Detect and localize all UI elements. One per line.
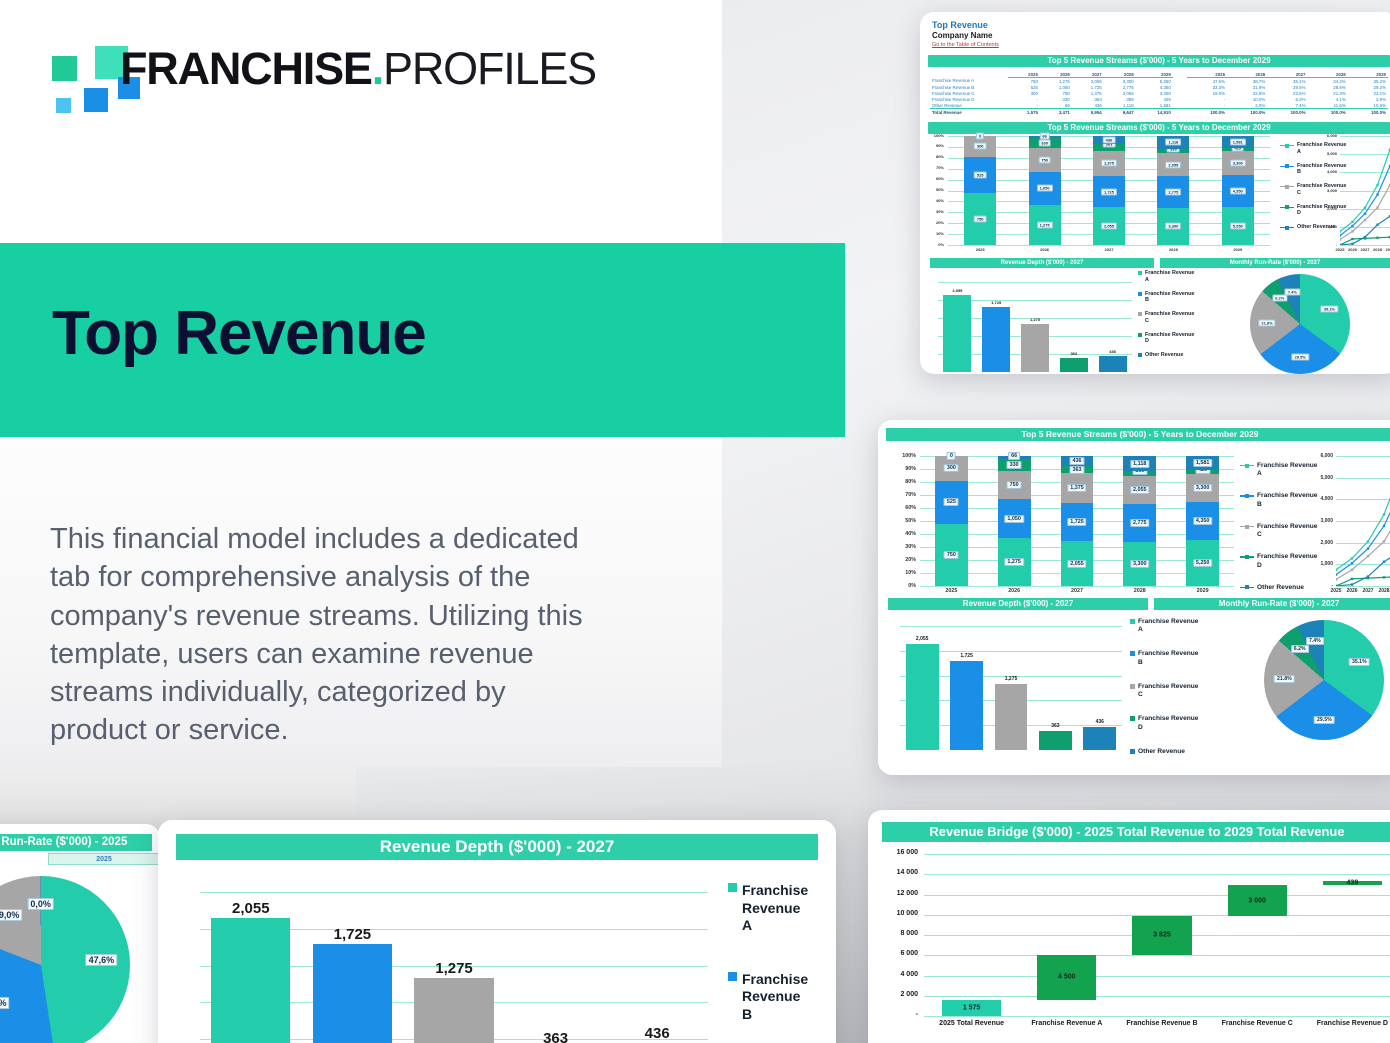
legend-item: Franchise RevenueB xyxy=(1138,291,1194,305)
depth-bar-value: 1,725 xyxy=(334,926,372,943)
stacked-bar-chart-large[interactable]: 0%10%20%30%40%50%60%70%80%90%100%7505253… xyxy=(894,452,1234,598)
legend-label: Other Revenue xyxy=(1138,748,1185,756)
stacked-bar[interactable]: 7505253000 xyxy=(964,136,996,245)
bar-segment: 330 xyxy=(998,459,1031,471)
bar-value-label: 1,275 xyxy=(1037,221,1053,228)
legend-label: Franchise RevenueB xyxy=(1257,492,1317,508)
legend-line-marker xyxy=(1240,585,1254,590)
chart2-legend-large: Franchise RevenueAFranchise RevenueBFran… xyxy=(1130,618,1198,772)
gridline xyxy=(924,895,1390,896)
bar-value-label: 436 xyxy=(1069,457,1084,465)
depth-bar-value: 363 xyxy=(1051,723,1059,729)
gridline xyxy=(948,245,1270,246)
legend-item: Franchise RevenueA xyxy=(1130,618,1198,634)
bar-value-label: 1,275 xyxy=(1004,558,1024,566)
depth-bar-value: 2,055 xyxy=(952,288,962,293)
legend-label: Other Revenue xyxy=(1145,352,1183,359)
depth-bar[interactable] xyxy=(1099,356,1127,372)
line-chart-mini[interactable]: -1,0002,0003,0004,0005,0006,000202520262… xyxy=(1320,132,1390,257)
y-axis-tick: 3,000 xyxy=(1320,188,1337,193)
waterfall-bar[interactable]: 4 500 xyxy=(1037,955,1096,1001)
chart3-title-banner-mini: Monthly Run-Rate ($'000) - 2027 xyxy=(1160,258,1390,268)
bar-segment: 3,300 xyxy=(1222,151,1254,175)
revenue-depth-chart-xl[interactable]: 2,0551,7251,275363436 xyxy=(188,876,708,1043)
depth-bar-value: 436 xyxy=(1096,719,1104,725)
screenshot-panel-bridge[interactable]: Revenue Bridge ($'000) - 2025 Total Reve… xyxy=(868,810,1390,1043)
gridline xyxy=(924,874,1390,875)
line-chart-large[interactable]: -1,0002,0003,0004,0005,0006,000202520262… xyxy=(1310,452,1390,598)
y-axis-tick: 4,000 xyxy=(1310,496,1333,502)
legend-label: Franchise RevenueD xyxy=(1138,715,1198,731)
bar-value-label: 4,350 xyxy=(1193,517,1213,525)
gridline xyxy=(920,586,1234,587)
bar-value-label: 66 xyxy=(1039,133,1049,140)
bar-segment: 3,300 xyxy=(1123,542,1156,586)
pie-year-chip: 2025 xyxy=(48,853,160,865)
y-axis-tick: 2 000 xyxy=(870,991,918,998)
bar-value-label: 1,725 xyxy=(1101,188,1117,195)
depth-bar[interactable] xyxy=(906,644,939,750)
x-axis-tick: 2028 xyxy=(1141,247,1205,252)
depth-bar-value: 436 xyxy=(1109,349,1116,354)
x-axis-tick: Franchise Revenue A xyxy=(1019,1020,1114,1027)
chart1-legend-large: Franchise RevenueAFranchise RevenueBFran… xyxy=(1240,462,1317,606)
revenue-bridge-waterfall[interactable]: -2 0004 0006 0008 00010 00012 00014 0001… xyxy=(924,854,1390,1036)
y-axis-tick: 0% xyxy=(894,583,916,589)
depth-bar[interactable] xyxy=(211,918,290,1043)
depth-bar[interactable] xyxy=(982,307,1010,372)
legend-label: Franchise RevenueC xyxy=(1257,523,1317,539)
bar-segment: 1,275 xyxy=(1029,205,1061,245)
legend-item: Franchise RevenueB xyxy=(728,971,836,1024)
legend-swatch xyxy=(1130,651,1135,656)
bar-segment: 1,118 xyxy=(1123,456,1156,471)
bar-value-label: 1,581 xyxy=(1230,138,1246,145)
screenshot-panel-depth[interactable]: Revenue Depth ($'000) - 2027 2,0551,7251… xyxy=(158,820,836,1043)
pie-value-label: 6.2% xyxy=(1291,645,1309,653)
revenue-table: 2025202620272028202920252026202720282029… xyxy=(930,71,1388,115)
stacked-bar-chart-mini[interactable]: 0%10%20%30%40%50%60%70%80%90%100%7505253… xyxy=(930,132,1270,257)
legend-item: Franchise RevenueA xyxy=(1138,270,1194,284)
chart4-title-banner: Revenue Bridge ($'000) - 2025 Total Reve… xyxy=(882,822,1390,842)
revenue-depth-chart-mini[interactable]: 2,0551,7251,275363436 xyxy=(932,274,1132,374)
bar-value-label: 5,250 xyxy=(1230,222,1246,229)
depth-bar-value: 1,275 xyxy=(1030,317,1040,322)
bar-segment: 436 xyxy=(1061,456,1094,466)
bar-segment: 3,300 xyxy=(1157,208,1189,245)
legend-item: Franchise RevenueD xyxy=(1138,332,1194,346)
x-axis-tick: 2029 xyxy=(1206,247,1270,252)
bar-segment: 525 xyxy=(964,157,996,193)
chart2-title-banner-3: Revenue Depth ($'000) - 2027 xyxy=(176,834,818,860)
y-axis-tick: 50% xyxy=(930,187,944,192)
depth-bar[interactable] xyxy=(943,295,971,372)
y-axis-tick: 10% xyxy=(894,570,916,576)
bar-segment: 2,055 xyxy=(1061,541,1094,586)
x-axis-tick: 2029 xyxy=(1380,247,1390,252)
stacked-bar[interactable]: 5,2504,3503,3004291,581 xyxy=(1186,456,1219,586)
legend-line-marker xyxy=(1280,143,1294,148)
x-axis-tick: Franchise Revenue C xyxy=(1210,1020,1305,1027)
waterfall-bar[interactable]: 439 xyxy=(1323,881,1382,885)
y-axis-tick: 12 000 xyxy=(870,890,918,897)
gridline xyxy=(924,996,1390,997)
legend-label: Franchise RevenueB xyxy=(742,971,836,1024)
brand-dot: . xyxy=(372,43,383,94)
y-axis-tick: 40% xyxy=(894,531,916,537)
legend-label: Franchise RevenueA xyxy=(742,882,836,935)
bar-value-label: 1,118 xyxy=(1165,139,1181,146)
bar-segment: 2,055 xyxy=(1093,207,1125,245)
bar-value-label: 750 xyxy=(944,551,959,559)
bar-value-label: 3,300 xyxy=(1193,484,1213,492)
bar-segment: 5,250 xyxy=(1186,540,1219,586)
legend-swatch xyxy=(1138,353,1142,357)
y-axis-tick: 90% xyxy=(894,466,916,472)
bar-segment: 399 xyxy=(1157,149,1189,154)
bar-segment: 1,581 xyxy=(1222,136,1254,148)
y-axis-tick: 4 000 xyxy=(870,971,918,978)
legend-line-marker xyxy=(1280,184,1294,189)
bar-value-label: 1,050 xyxy=(1004,515,1024,523)
pie-value-label: 29.5% xyxy=(1314,716,1335,724)
legend-label: Franchise RevenueA xyxy=(1138,618,1198,634)
bar-value-label: 4,350 xyxy=(1230,187,1246,194)
gridline xyxy=(900,626,1122,627)
y-axis-tick: 60% xyxy=(930,176,944,181)
stacked-bar[interactable]: 1,2751,05075033066 xyxy=(1029,136,1061,245)
legend-label: Franchise RevenueB xyxy=(1145,291,1194,305)
sheet-title: Top Revenue xyxy=(932,20,1386,30)
brand-wordmark: FRANCHISE.PROFILES xyxy=(120,43,596,95)
bar-segment: 429 xyxy=(1186,470,1219,474)
x-axis-tick: 2025 Total Revenue xyxy=(924,1020,1019,1027)
stacked-bar[interactable]: 3,3002,7752,0553991,118 xyxy=(1123,456,1156,586)
bar-segment: 4,350 xyxy=(1222,175,1254,207)
legend-line-marker xyxy=(1280,205,1294,210)
bar-value-label: 300 xyxy=(944,464,959,472)
bar-value-label: 363 xyxy=(1069,466,1084,474)
bar-value-label: 0 xyxy=(947,452,956,460)
bar-value-label: 525 xyxy=(974,171,987,178)
bar-value-label: 1,581 xyxy=(1193,459,1213,467)
x-axis-tick: 2027 xyxy=(1077,247,1141,252)
depth-bar[interactable] xyxy=(950,661,983,750)
pie-chart-2025[interactable]: 47,6%33,3%19,0%0,0%0,0% xyxy=(0,876,130,1043)
depth-bar-value: 363 xyxy=(1070,351,1077,356)
bar-segment: 1,118 xyxy=(1157,136,1189,149)
bar-segment: 4,350 xyxy=(1186,502,1219,540)
legend-item: Franchise RevenueD xyxy=(1130,715,1198,731)
y-axis-tick: 90% xyxy=(930,143,944,148)
gridline xyxy=(1340,245,1390,246)
legend-label: Other Revenue xyxy=(1257,584,1304,592)
y-axis-tick: 70% xyxy=(894,492,916,498)
logo-square-blue-light xyxy=(56,98,71,113)
y-axis-tick: - xyxy=(870,1011,918,1018)
pie-value-label: 7.4% xyxy=(1306,637,1324,645)
legend-line-marker xyxy=(1280,164,1294,169)
gridline xyxy=(924,955,1390,956)
y-axis-tick: 16 000 xyxy=(870,849,918,856)
bar-segment: 330 xyxy=(1029,138,1061,148)
chart3-title-banner-2: Monthly Run-Rate ($'000) - 2027 xyxy=(1154,598,1390,610)
legend-label: Franchise RevenueB xyxy=(1138,650,1198,666)
pie-value-label: 47,6% xyxy=(86,954,118,966)
y-axis-tick: 50% xyxy=(894,518,916,524)
pie-value-label: 21.8% xyxy=(1274,675,1295,683)
y-axis-tick: 5,000 xyxy=(1320,151,1337,156)
depth-bar-value: 436 xyxy=(645,1025,670,1042)
screenshot-panel-middle[interactable]: Top 5 Revenue Streams ($'000) - 5 Years … xyxy=(878,420,1390,775)
legend-item: Franchise RevenueC xyxy=(1130,683,1198,699)
screenshot-panel-top[interactable]: Top Revenue Company Name Go to the Table… xyxy=(920,12,1390,374)
stacked-bar[interactable]: 7505253000 xyxy=(935,456,968,586)
bar-value-label: 750 xyxy=(974,216,987,223)
depth-bar-value: 2,055 xyxy=(232,900,270,917)
chart1-title-banner-2: Top 5 Revenue Streams ($'000) - 5 Years … xyxy=(886,428,1390,441)
stacked-bar[interactable]: 2,0551,7251,375363436 xyxy=(1061,456,1094,586)
waterfall-value: 439 xyxy=(1347,880,1359,887)
revenue-depth-chart-large[interactable]: 2,0551,7251,275363436 xyxy=(892,616,1122,756)
pie-value-label: 35.1% xyxy=(1321,306,1338,313)
bar-value-label: 66 xyxy=(1008,452,1020,460)
bar-segment: 2,775 xyxy=(1123,504,1156,541)
bar-segment: 2,775 xyxy=(1157,176,1189,207)
y-axis-tick: 4,000 xyxy=(1320,169,1337,174)
bar-value-label: 1,050 xyxy=(1037,185,1053,192)
bar-value-label: 750 xyxy=(1007,481,1022,489)
logo-square-teal-dark xyxy=(52,56,77,81)
depth-bar[interactable] xyxy=(1021,324,1049,372)
bar-segment: 66 xyxy=(1029,136,1061,138)
legend-item: Other Revenue xyxy=(1240,584,1317,592)
bar-segment: 1,375 xyxy=(1093,151,1125,176)
y-axis-tick: 14 000 xyxy=(870,869,918,876)
bar-segment: 750 xyxy=(935,524,968,586)
x-axis-tick: 2029 xyxy=(1171,588,1234,594)
pie-value-label: 21.8% xyxy=(1258,319,1275,326)
bar-value-label: 750 xyxy=(1038,157,1051,164)
x-axis-tick: 2028 xyxy=(1374,588,1390,594)
line-series-svg xyxy=(1336,456,1390,586)
bar-value-label: 1,725 xyxy=(1067,518,1087,526)
hero-description: This financial model includes a dedicate… xyxy=(50,520,610,750)
x-axis-tick: Franchise Revenue B xyxy=(1114,1020,1209,1027)
bar-segment: 66 xyxy=(998,456,1031,458)
bar-segment: 1,725 xyxy=(1093,176,1125,208)
chart2-legend-xl: Franchise RevenueAFranchise RevenueBFran… xyxy=(728,882,836,1043)
legend-item: Franchise RevenueB xyxy=(1240,492,1317,508)
x-axis-tick: Franchise Revenue D xyxy=(1305,1020,1390,1027)
bar-segment: 1,050 xyxy=(998,499,1031,538)
pie-chart-large[interactable]: 35.1%29.5%21.8%6.2%7.4% xyxy=(1264,620,1384,740)
depth-bar-value: 1,725 xyxy=(960,653,973,659)
bar-segment: 5,250 xyxy=(1222,207,1254,245)
depth-bar-value: 2,055 xyxy=(916,636,929,642)
gridline xyxy=(200,892,708,893)
stacked-bar[interactable]: 5,2504,3503,3004291,581 xyxy=(1222,136,1254,245)
legend-label: Franchise RevenueC xyxy=(1138,683,1198,699)
y-axis-tick: 40% xyxy=(930,198,944,203)
legend-item: Other Revenue xyxy=(1130,748,1198,756)
bar-value-label: 0 xyxy=(976,133,984,140)
waterfall-value: 4 500 xyxy=(1058,974,1076,981)
bar-segment: 3,300 xyxy=(1186,474,1219,503)
table-row-total: Total Revenue1,5753,4715,9549,64714,9101… xyxy=(930,109,1388,116)
gridline xyxy=(938,282,1132,283)
waterfall-value: 3 825 xyxy=(1153,932,1171,939)
bar-segment: 750 xyxy=(1029,148,1061,172)
legend-swatch xyxy=(1138,312,1142,316)
y-axis-tick: 6,000 xyxy=(1320,133,1337,138)
chart2-title-banner-mini: Revenue Depth ($'000) - 2027 xyxy=(930,258,1154,268)
bar-value-label: 330 xyxy=(1007,461,1022,469)
pie-value-label: 19,0% xyxy=(0,909,22,921)
y-axis-tick: 30% xyxy=(930,209,944,214)
legend-item: Franchise RevenueD xyxy=(1240,553,1317,569)
bar-value-label: 2,055 xyxy=(1101,223,1117,230)
bar-segment: 525 xyxy=(935,481,968,524)
bar-segment: 1,725 xyxy=(1061,503,1094,541)
y-axis-tick: 30% xyxy=(894,544,916,550)
screenshot-panel-pie[interactable]: Monthly Run-Rate ($'000) - 2025 2025 47,… xyxy=(0,824,160,1043)
depth-bar[interactable] xyxy=(995,684,1028,750)
y-axis-tick: 10 000 xyxy=(870,910,918,917)
legend-swatch xyxy=(1130,749,1135,754)
chart2-title-banner-2: Revenue Depth ($'000) - 2027 xyxy=(888,598,1148,610)
legend-label: Franchise RevenueD xyxy=(1257,553,1317,569)
bar-value-label: 2,055 xyxy=(1130,486,1150,494)
x-axis-tick: 2025 xyxy=(920,588,983,594)
legend-line-marker xyxy=(1240,493,1254,498)
legend-swatch xyxy=(1130,716,1135,721)
brand-logo[interactable]: FRANCHISE.PROFILES xyxy=(48,44,548,106)
legend-line-marker xyxy=(1240,554,1254,559)
depth-bar-value: 1,275 xyxy=(435,960,473,977)
y-axis-tick: 3,000 xyxy=(1310,518,1333,524)
depth-bar[interactable] xyxy=(313,944,392,1043)
y-axis-tick: 100% xyxy=(894,453,916,459)
y-axis-tick: 100% xyxy=(930,133,944,138)
legend-label: Franchise RevenueA xyxy=(1257,462,1317,478)
legend-swatch xyxy=(1130,684,1135,689)
background-white-top-left xyxy=(0,0,722,243)
depth-bar[interactable] xyxy=(1060,358,1088,372)
bar-value-label: 3,300 xyxy=(1230,159,1246,166)
bar-segment: 363 xyxy=(1061,466,1094,474)
legend-swatch xyxy=(1138,292,1142,296)
waterfall-bar[interactable]: 3 825 xyxy=(1132,916,1191,955)
pie-value-label: 33,3% xyxy=(0,997,10,1009)
legend-swatch xyxy=(728,883,737,892)
y-axis-tick: 0% xyxy=(930,242,944,247)
bar-segment: 750 xyxy=(964,193,996,245)
bar-value-label: 3,300 xyxy=(1165,223,1181,230)
legend-label: Franchise RevenueD xyxy=(1145,332,1194,346)
y-axis-tick: 5,000 xyxy=(1310,475,1333,481)
bar-value-label: 1,118 xyxy=(1130,460,1149,468)
legend-swatch xyxy=(728,972,737,981)
bar-segment: 1,275 xyxy=(998,538,1031,586)
page-title: Top Revenue xyxy=(52,303,426,365)
stacked-bar[interactable]: 1,2751,05075033066 xyxy=(998,456,1031,586)
legend-item: Franchise RevenueA xyxy=(728,882,836,935)
depth-bar[interactable] xyxy=(1039,731,1072,750)
legend-line-marker xyxy=(1240,463,1254,468)
chart3-title-banner-2025: Monthly Run-Rate ($'000) - 2025 xyxy=(0,834,152,851)
legend-item: Franchise RevenueC xyxy=(1138,311,1194,325)
pie-chart-mini[interactable]: 35.1%29.5%21.8%6.2%7.4% xyxy=(1250,274,1350,374)
logo-square-blue-1 xyxy=(84,88,108,112)
pie-value-label: 29.5% xyxy=(1292,353,1309,360)
legend-item: Franchise RevenueA xyxy=(1240,462,1317,478)
legend-item: Other Revenue xyxy=(1138,352,1194,359)
stacked-bar[interactable]: 3,3002,7752,0553991,118 xyxy=(1157,136,1189,245)
table-title-banner: Top 5 Revenue Streams ($'000) - 5 Years … xyxy=(928,55,1390,67)
gridline xyxy=(924,1016,1390,1017)
y-axis-tick: 70% xyxy=(930,165,944,170)
bar-value-label: 2,055 xyxy=(1067,560,1087,568)
waterfall-bar[interactable]: 3 000 xyxy=(1228,885,1287,915)
bar-value-label: 436 xyxy=(1103,137,1116,144)
bar-segment: 750 xyxy=(998,471,1031,499)
bar-segment: 1,581 xyxy=(1186,456,1219,470)
bar-value-label: 5,250 xyxy=(1193,559,1213,567)
gridline xyxy=(924,976,1390,977)
y-axis-tick: 6,000 xyxy=(1310,453,1333,459)
stacked-bar[interactable]: 2,0551,7251,375363436 xyxy=(1093,136,1125,245)
pie-value-label: 7.4% xyxy=(1285,288,1300,295)
depth-bar[interactable] xyxy=(1083,727,1116,750)
y-axis-tick: 1,000 xyxy=(1310,561,1333,567)
y-axis-tick: 60% xyxy=(894,505,916,511)
bar-value-label: 1,375 xyxy=(1101,160,1117,167)
depth-bar[interactable] xyxy=(414,978,493,1043)
legend-line-marker xyxy=(1240,524,1254,529)
bar-segment: 2,055 xyxy=(1123,476,1156,504)
x-axis-tick: 2026 xyxy=(1012,247,1076,252)
depth-bar-value: 363 xyxy=(543,1030,568,1043)
y-axis-tick: 10% xyxy=(930,231,944,236)
x-axis-tick: 2026 xyxy=(983,588,1046,594)
legend-item: Franchise RevenueB xyxy=(1130,650,1198,666)
bar-segment: 2,055 xyxy=(1157,153,1189,176)
waterfall-value: 3 000 xyxy=(1248,897,1266,904)
bar-value-label: 3,300 xyxy=(1130,560,1150,568)
line-series-svg xyxy=(1340,136,1390,245)
x-axis-tick: 2028 xyxy=(1108,588,1171,594)
legend-swatch xyxy=(1138,271,1142,275)
bar-segment: 1,050 xyxy=(1029,172,1061,205)
pie-value-label: 0,0% xyxy=(27,898,54,910)
legend-swatch xyxy=(1138,333,1142,337)
y-axis-tick: 80% xyxy=(894,479,916,485)
waterfall-bar[interactable]: 1 575 xyxy=(942,1000,1001,1016)
pie-value-label: 35.1% xyxy=(1349,658,1370,666)
bar-value-label: 2,055 xyxy=(1165,161,1181,168)
y-axis-tick: 1,000 xyxy=(1320,224,1337,229)
y-axis-tick: 20% xyxy=(894,557,916,563)
legend-swatch xyxy=(1130,619,1135,624)
y-axis-tick: 80% xyxy=(930,154,944,159)
bar-value-label: 300 xyxy=(974,143,987,150)
bar-value-label: 2,775 xyxy=(1165,189,1181,196)
bar-value-label: 1,375 xyxy=(1067,484,1087,492)
toc-link[interactable]: Go to the Table of Contents xyxy=(932,42,1386,48)
bar-value-label: 2,775 xyxy=(1130,519,1150,527)
legend-label: Franchise RevenueA xyxy=(1145,270,1194,284)
